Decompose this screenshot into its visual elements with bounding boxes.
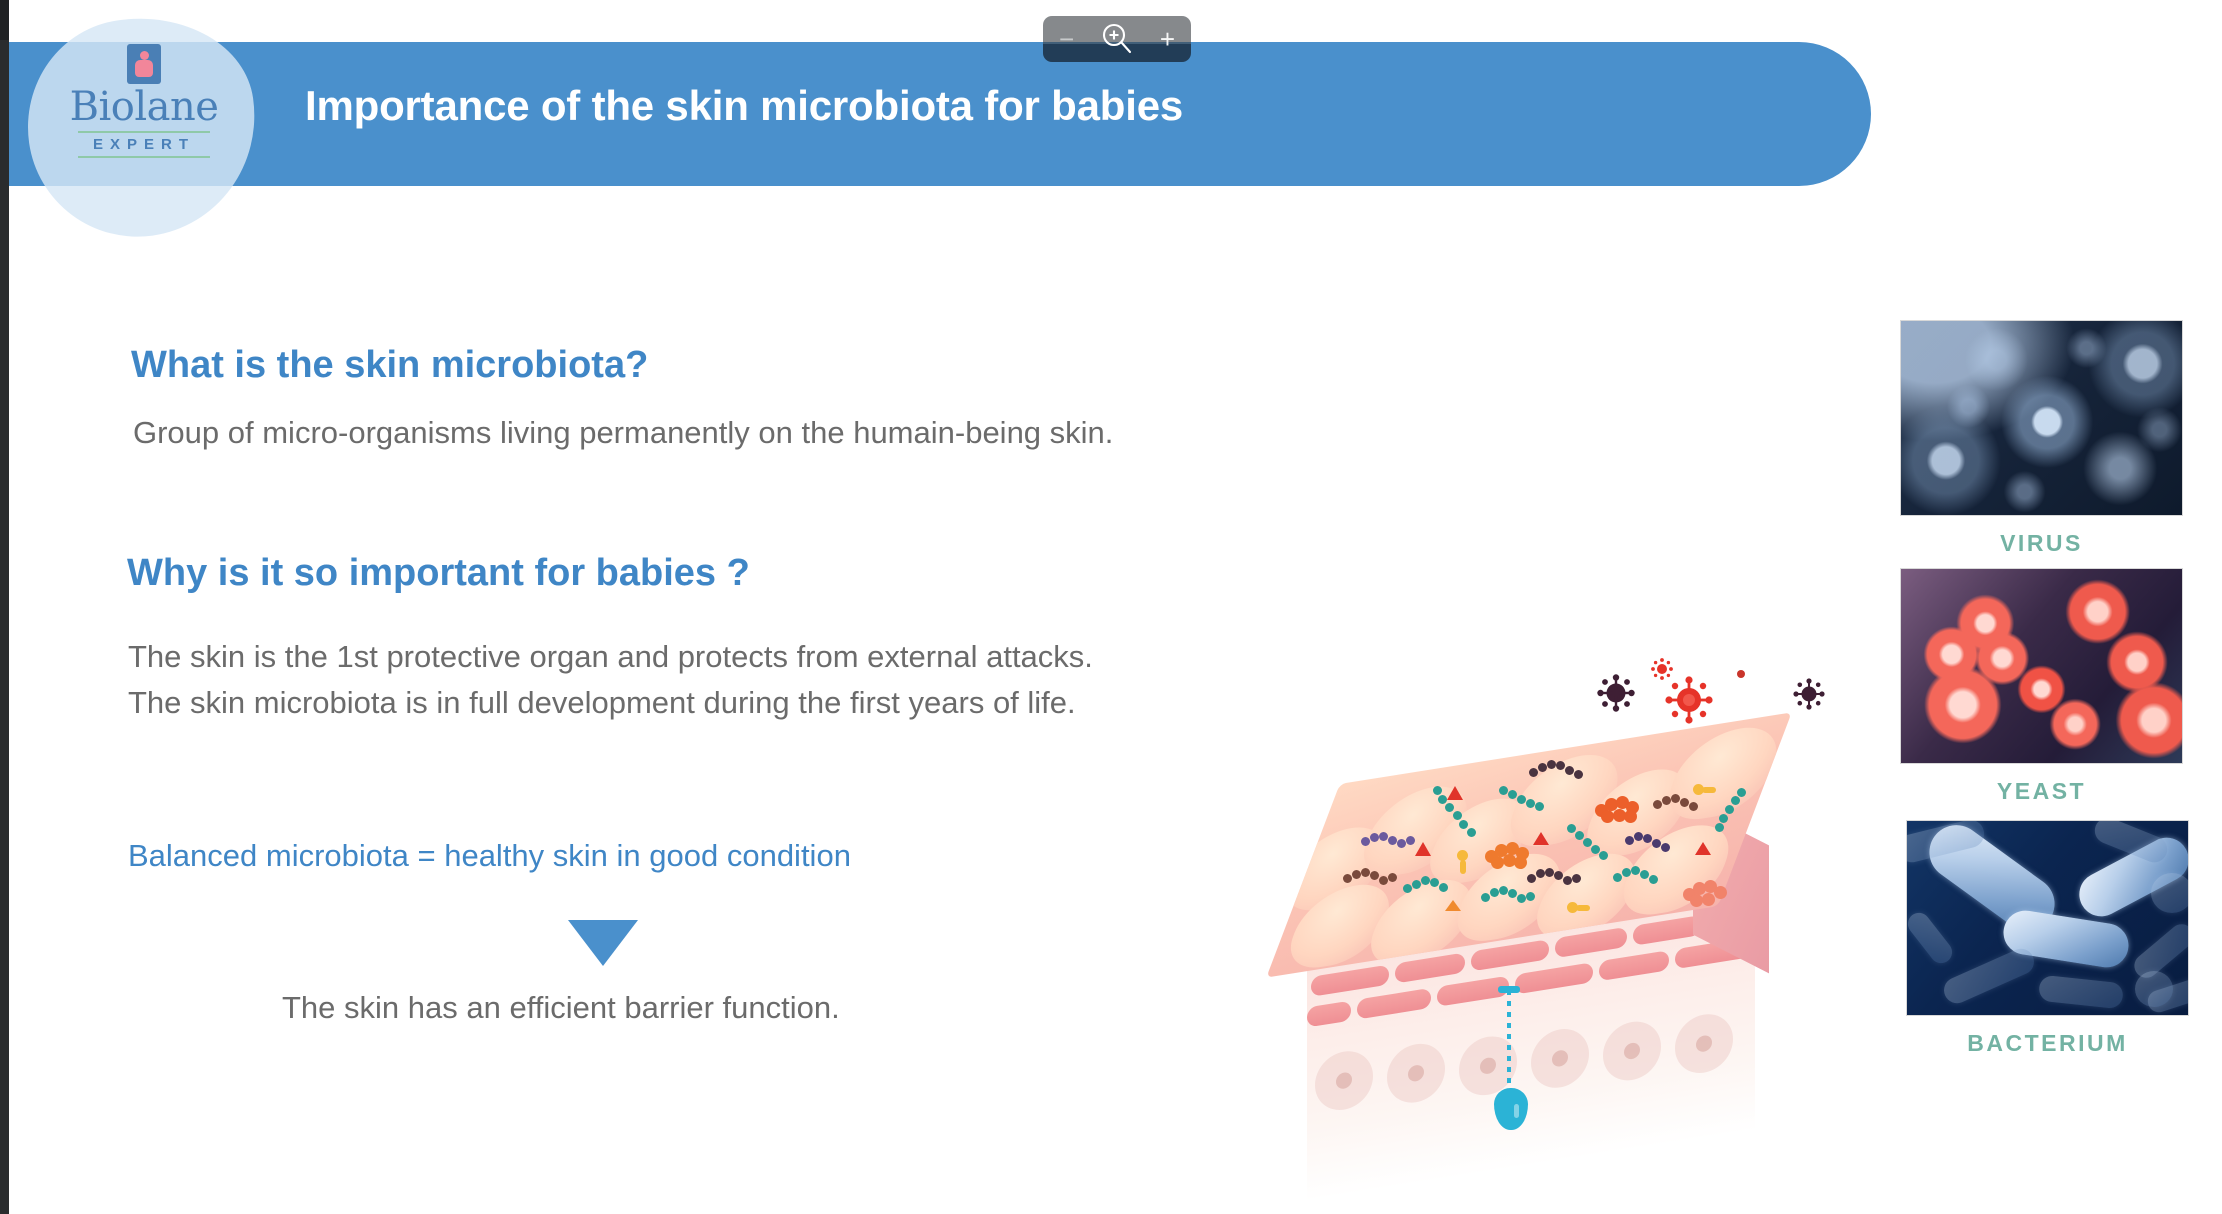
gallery-item-yeast: YEAST [1900, 568, 2183, 805]
triangular-microbe [1445, 900, 1461, 911]
magnifier-plus-icon[interactable] [1100, 22, 1134, 56]
statement-text: Balanced microbiota = healthy skin in go… [128, 838, 851, 874]
yeast-microscopy-image [1900, 568, 2183, 764]
conclusion-text: The skin has an efficient barrier functi… [282, 985, 840, 1031]
gallery-caption-bacterium: BACTERIUM [1906, 1030, 2189, 1057]
virus-particle-icon [1651, 658, 1673, 685]
logo-rule-bottom [78, 156, 210, 158]
logo-rule-top [78, 131, 210, 133]
zoom-out-button[interactable]: − [1059, 26, 1074, 52]
section-2-heading: Why is it so important for babies ? [127, 552, 750, 595]
baby-logo-icon [127, 44, 161, 84]
gallery-item-virus: VIRUS [1900, 320, 2183, 557]
brand-logo[interactable]: Biolane EXPERT [58, 44, 230, 184]
virus-particle-icon [1731, 664, 1751, 689]
page-title: Importance of the skin microbiota for ba… [305, 82, 1183, 130]
section-1-body: Group of micro-organisms living permanen… [133, 410, 1113, 456]
virus-particle-icon [1793, 678, 1825, 715]
bacterium-microscopy-image [1906, 820, 2189, 1016]
gallery-caption-virus: VIRUS [1900, 530, 2183, 557]
triangular-microbe [1695, 842, 1711, 855]
virus-microscopy-image [1900, 320, 2183, 516]
triangular-microbe [1533, 832, 1549, 845]
down-triangle-icon [568, 920, 638, 966]
triangular-microbe [1415, 842, 1431, 856]
gallery-item-bacterium: BACTERIUM [1906, 820, 2189, 1057]
brand-subtitle: EXPERT [58, 136, 230, 153]
section-2-body-line-2: The skin microbiota is in full developme… [128, 680, 1093, 726]
slide-canvas: Biolane EXPERT Importance of the skin mi… [0, 0, 2222, 1214]
brand-name: Biolane [58, 87, 230, 127]
section-2-body: The skin is the 1st protective organ and… [128, 634, 1093, 726]
gallery-caption-yeast: YEAST [1900, 778, 2183, 805]
section-2-body-line-1: The skin is the 1st protective organ and… [128, 634, 1093, 680]
virus-particle-icon [1597, 674, 1635, 717]
section-1-heading: What is the skin microbiota? [131, 344, 648, 387]
sweat-duct [1507, 990, 1511, 1096]
slide-content: What is the skin microbiota? Group of mi… [0, 0, 2222, 1214]
triangular-microbe [1447, 786, 1463, 800]
zoom-in-button[interactable]: + [1160, 26, 1175, 52]
zoom-control[interactable]: − + [1043, 16, 1191, 62]
skin-cross-section-illustration [1295, 690, 1815, 1214]
